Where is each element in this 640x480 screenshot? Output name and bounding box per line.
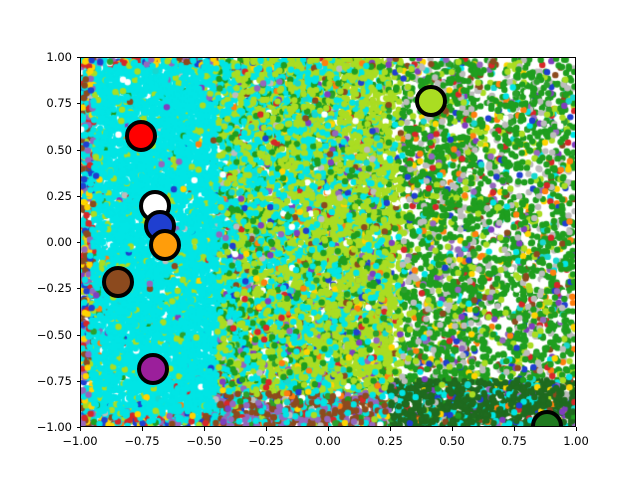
x-tick-mark — [80, 427, 81, 431]
y-tick-mark — [77, 196, 81, 197]
x-tick-mark — [204, 427, 205, 431]
x-tick-mark — [452, 427, 453, 431]
x-tick-mark — [514, 427, 515, 431]
y-tick-mark — [77, 288, 81, 289]
y-tick-mark — [77, 381, 81, 382]
y-tick-label: −0.50 — [22, 328, 72, 342]
x-tick-label: 0.50 — [439, 434, 465, 448]
x-tick-mark — [576, 427, 577, 431]
y-tick-mark — [77, 242, 81, 243]
y-tick-label: −0.25 — [22, 281, 72, 295]
y-tick-label: 0.50 — [22, 143, 72, 157]
y-tick-mark — [77, 57, 81, 58]
x-tick-label: −0.75 — [124, 434, 159, 448]
x-tick-mark — [142, 427, 143, 431]
x-tick-mark — [390, 427, 391, 431]
axis-tick-layer — [80, 57, 576, 427]
y-tick-mark — [77, 150, 81, 151]
y-tick-mark — [77, 103, 81, 104]
y-tick-label: 0.75 — [22, 96, 72, 110]
y-tick-label: −0.75 — [22, 374, 72, 388]
x-tick-label: −0.50 — [186, 434, 221, 448]
x-tick-mark — [328, 427, 329, 431]
x-tick-mark — [266, 427, 267, 431]
figure-canvas: −1.00−0.75−0.50−0.250.000.250.500.751.00… — [0, 0, 640, 480]
x-tick-label: 1.00 — [563, 434, 589, 448]
y-tick-label: 0.25 — [22, 189, 72, 203]
x-tick-label: 0.25 — [377, 434, 403, 448]
x-tick-label: −0.25 — [248, 434, 283, 448]
y-tick-label: 0.00 — [22, 235, 72, 249]
x-tick-label: 0.75 — [501, 434, 527, 448]
y-tick-mark — [77, 335, 81, 336]
x-tick-label: 0.00 — [315, 434, 341, 448]
y-tick-label: −1.00 — [22, 420, 72, 434]
x-tick-label: −1.00 — [62, 434, 97, 448]
y-tick-label: 1.00 — [22, 50, 72, 64]
